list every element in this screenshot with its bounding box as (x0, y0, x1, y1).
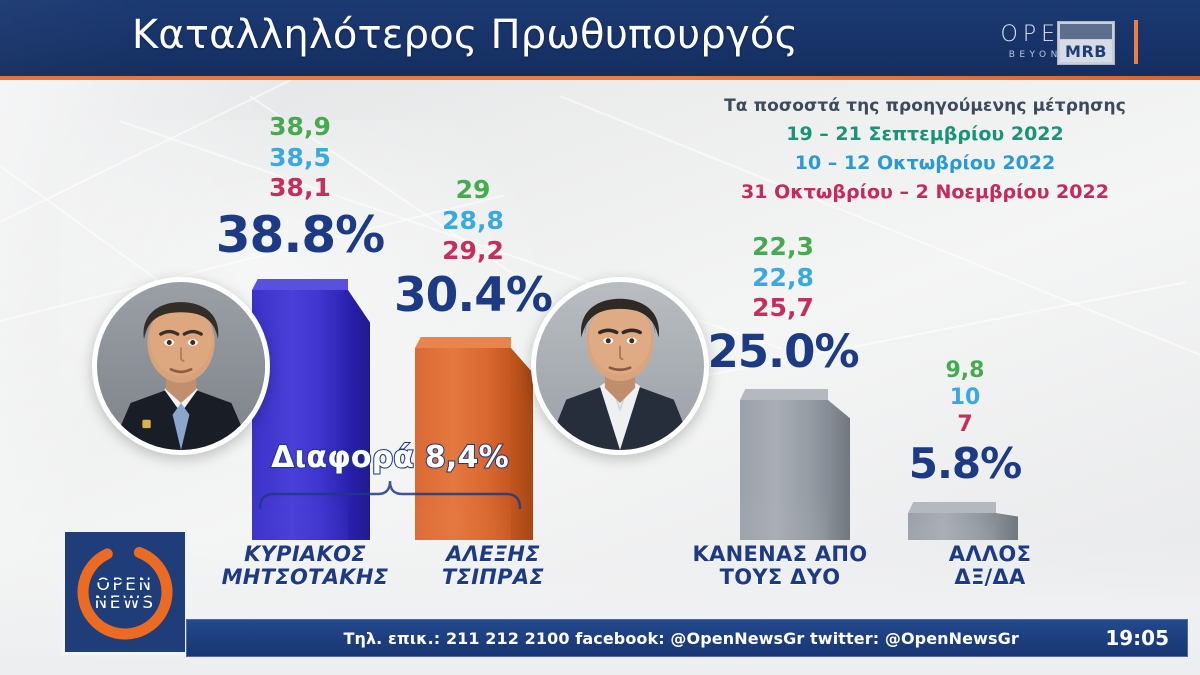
open-news-logo: OPEN NEWS (62, 529, 188, 655)
difference-label: Διαφορά 8,4% (255, 440, 525, 475)
ticker-text: Τηλ. επικ.: 211 212 2100 facebook: @Open… (187, 629, 1105, 648)
ticker-bar: Τηλ. επικ.: 211 212 2100 facebook: @Open… (186, 619, 1188, 657)
label-line-1: ΑΛΛΟΣ (895, 543, 1085, 566)
bar-reflection (908, 518, 996, 540)
difference-brace (258, 478, 522, 512)
prev-value-nov: 29,2 (378, 236, 568, 267)
prev-value-sep: 38,9 (205, 112, 395, 143)
bar-top-face (252, 279, 348, 290)
prev-value-oct: 28,8 (378, 206, 568, 237)
bar-neither (740, 400, 828, 540)
prev-value-sep: 22,3 (688, 232, 878, 263)
label-neither: ΚΑΝΕΝΑΣ ΑΠΟ ΤΟΥΣ ΔΥΟ (650, 543, 910, 588)
open-news-line-1: OPEN (96, 575, 153, 595)
avatar-mitsotakis (92, 277, 270, 455)
values-other: 9,8 10 7 5.8% (880, 358, 1050, 485)
clock: 19:05 (1105, 626, 1187, 650)
prev-value-oct: 10 (880, 385, 1050, 412)
values-mitsotakis: 38,9 38,5 38,1 38.8% (205, 112, 395, 260)
avatar-tsipras (531, 277, 709, 455)
main-value: 5.8% (880, 443, 1050, 485)
legend-entry-nov: 31 Οκτωβρίου – 2 Νοεμβρίου 2022 (690, 181, 1160, 203)
mrb-logo-bottom: MRB (1060, 40, 1112, 62)
label-line-2: ΤΣΙΠΡΑΣ (398, 566, 588, 589)
bar-side-face (996, 513, 1018, 540)
prev-value-sep: 29 (378, 175, 568, 206)
label-line-2: ΜΗΤΣΟΤΑΚΗΣ (190, 566, 420, 589)
prev-value-oct: 22,8 (688, 263, 878, 294)
legend-entry-sep: 19 – 21 Σεπτεμβρίου 2022 (690, 123, 1160, 145)
bar-side-face (828, 400, 850, 540)
bar-top-face (908, 502, 996, 513)
prev-value-nov: 25,7 (688, 293, 878, 324)
bar-other (908, 513, 996, 540)
values-neither: 22,3 22,8 25,7 25.0% (688, 232, 878, 374)
mrb-wordmark: MRB (1065, 42, 1107, 61)
label-mitsotakis: ΚΥΡΙΑΚΟΣ ΜΗΤΣΟΤΑΚΗΣ (190, 543, 420, 588)
prev-value-sep: 9,8 (880, 358, 1050, 385)
bar-top-face (415, 337, 511, 348)
legend-title: Τα ποσοστά της προηγούμενης μέτρησης (690, 96, 1160, 116)
broadcast-graphic: 38,9 38,5 38,1 38.8% 29 28,8 29,2 30.4% … (0, 0, 1200, 675)
page-title: Καταλληλότερος Πρωθυπουργός (0, 12, 930, 58)
bar-reflection (740, 494, 828, 540)
prev-value-nov: 7 (880, 412, 1050, 439)
header-accent-bar (1134, 20, 1138, 64)
label-line-1: ΚΑΝΕΝΑΣ ΑΠΟ (650, 543, 910, 566)
label-line-1: ΑΛΕΞΗΣ (398, 543, 588, 566)
label-line-2: ΔΞ/ΔΑ (895, 566, 1085, 589)
open-news-logo-mark: OPEN NEWS (73, 540, 177, 644)
bar-top-face (740, 389, 828, 400)
mrb-logo: MRB (1057, 21, 1115, 65)
open-news-line-2: NEWS (94, 593, 155, 613)
legend: Τα ποσοστά της προηγούμενης μέτρησης 19 … (690, 96, 1160, 203)
main-value: 38.8% (205, 210, 395, 260)
prev-value-nov: 38,1 (205, 173, 395, 204)
prev-value-oct: 38,5 (205, 143, 395, 174)
mrb-logo-top (1060, 24, 1112, 39)
portrait-mitsotakis (97, 282, 265, 450)
label-other: ΑΛΛΟΣ ΔΞ/ΔΑ (895, 543, 1085, 588)
legend-entry-oct: 10 – 12 Οκτωβρίου 2022 (690, 152, 1160, 174)
portrait-tsipras (536, 282, 704, 450)
header-bar: Καταλληλότερος Πρωθυπουργός OPEN BEYOND … (0, 0, 1200, 80)
label-line-2: ΤΟΥΣ ΔΥΟ (650, 566, 910, 589)
label-line-1: ΚΥΡΙΑΚΟΣ (190, 543, 420, 566)
label-tsipras: ΑΛΕΞΗΣ ΤΣΙΠΡΑΣ (398, 543, 588, 588)
main-value: 25.0% (688, 329, 878, 374)
